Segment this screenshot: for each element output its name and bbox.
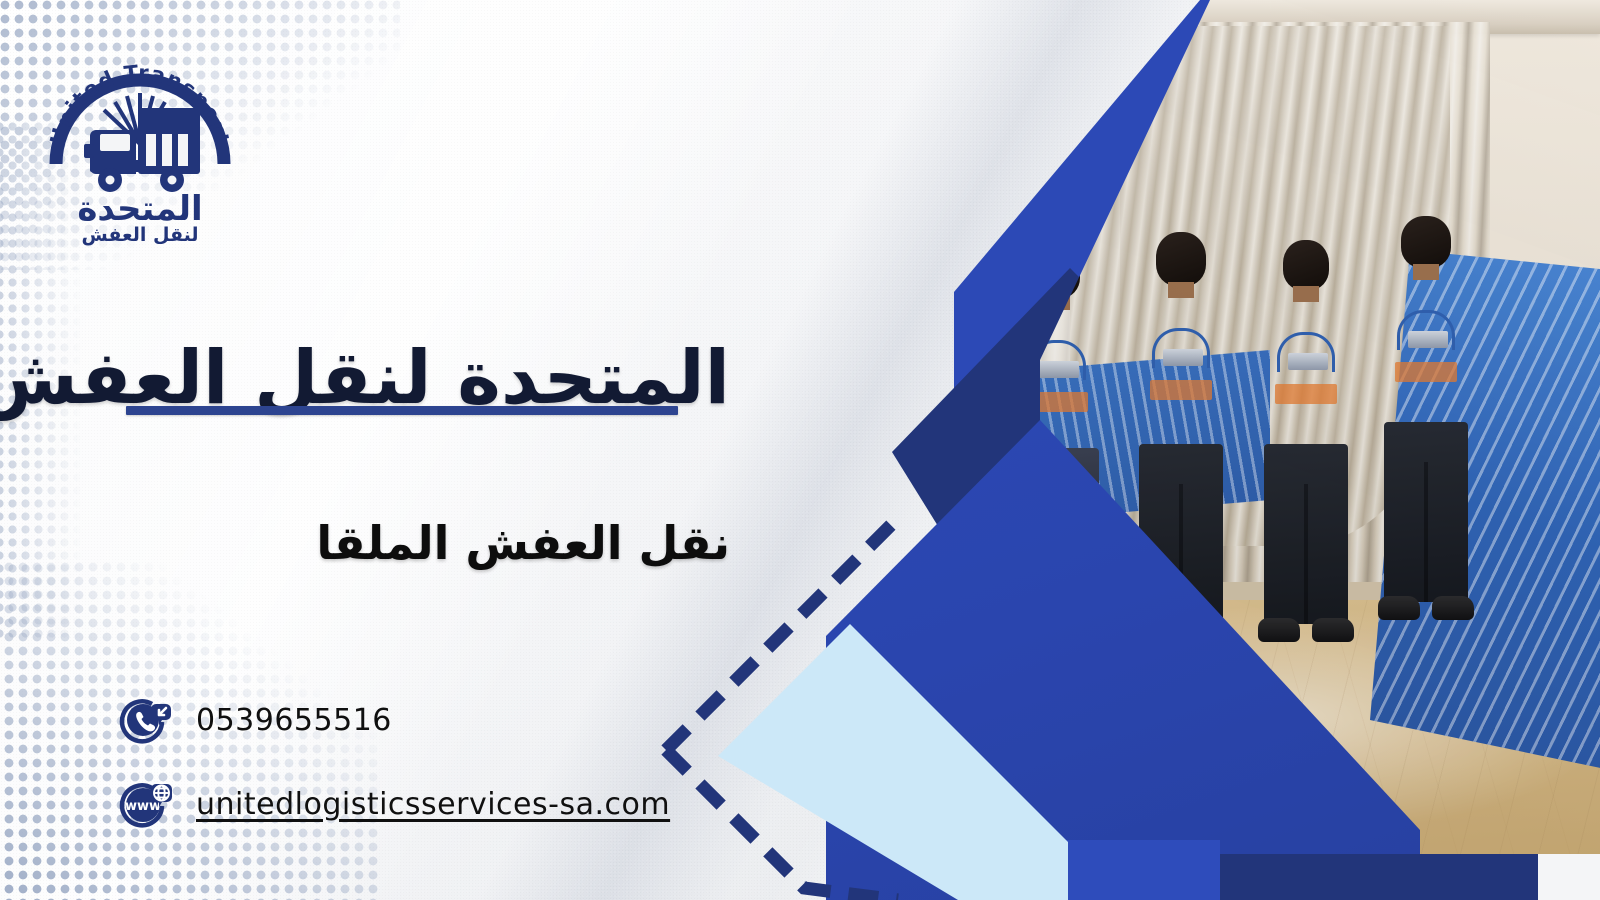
company-logo[interactable]: United Transport — [40, 38, 240, 248]
phone-call-icon — [118, 692, 174, 748]
website-url[interactable]: unitedlogisticsservices-sa.com — [196, 787, 670, 822]
title-underline-rule — [126, 406, 678, 415]
royal-bottom-rail — [980, 840, 1220, 900]
logo-arabic-main: المتحدة — [77, 189, 202, 229]
photo-composition — [740, 0, 1600, 900]
contact-row-website[interactable]: www unitedlogisticsservices-sa.com — [118, 776, 670, 832]
phone-number: 0539655516 — [196, 703, 392, 738]
contact-row-phone[interactable]: 0539655516 — [118, 692, 670, 748]
www-globe-icon: www — [118, 776, 174, 832]
chandelier-crystals — [910, 0, 1050, 110]
logo-arabic-sub: لنقل العفش — [81, 224, 198, 246]
bottom-right-corner-notch — [1538, 854, 1600, 900]
banner-canvas: United Transport — [0, 0, 1600, 900]
page-subtitle: نقل العفش الملقا — [60, 516, 730, 571]
contact-block: 0539655516 www united — [118, 692, 670, 832]
